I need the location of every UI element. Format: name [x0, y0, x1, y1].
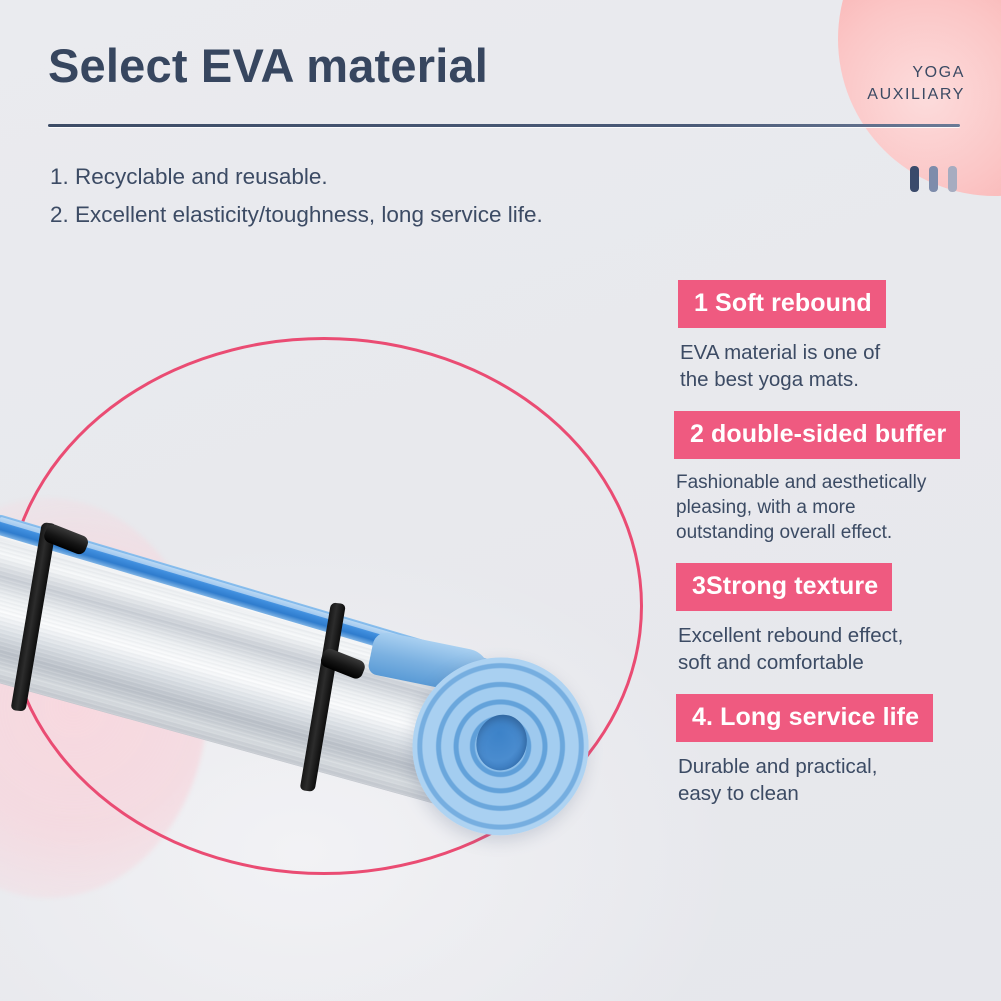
feature-list: 1 Soft rebound EVA material is one of th… — [672, 280, 994, 807]
accent-bar-medium — [929, 166, 938, 192]
brand-label-line1: YOGA — [867, 62, 965, 84]
accent-bars — [910, 166, 957, 192]
feature-badge-1: 1 Soft rebound — [678, 280, 886, 328]
feature-description-3: Excellent rebound effect, soft and comfo… — [678, 622, 994, 676]
feature-description-2-line-2: pleasing, with a more — [676, 495, 994, 520]
feature-description-2-line-1: Fashionable and aesthetically — [676, 470, 994, 495]
title-divider — [48, 124, 960, 127]
feature-item-3: 3Strong texture Excellent rebound effect… — [672, 563, 994, 676]
accent-bar-light — [948, 166, 957, 192]
feature-badge-4: 4. Long service life — [676, 694, 933, 742]
accent-bar-dark — [910, 166, 919, 192]
feature-description-1-line-2: the best yoga mats. — [680, 366, 994, 393]
feature-description-4-line-2: easy to clean — [678, 780, 994, 807]
infographic-canvas: YOGA AUXILIARY Select EVA material 1. Re… — [0, 0, 1001, 1001]
feature-badge-3: 3Strong texture — [676, 563, 892, 611]
brand-label: YOGA AUXILIARY — [867, 62, 965, 106]
feature-description-2: Fashionable and aesthetically pleasing, … — [676, 470, 994, 545]
feature-description-4: Durable and practical, easy to clean — [678, 753, 994, 807]
feature-item-4: 4. Long service life Durable and practic… — [672, 694, 994, 807]
brand-label-line2: AUXILIARY — [867, 84, 965, 106]
feature-description-4-line-1: Durable and practical, — [678, 753, 994, 780]
feature-description-1-line-1: EVA material is one of — [680, 339, 994, 366]
feature-description-1: EVA material is one of the best yoga mat… — [680, 339, 994, 393]
feature-description-3-line-1: Excellent rebound effect, — [678, 622, 994, 649]
feature-badge-2: 2 double-sided buffer — [674, 411, 960, 459]
feature-item-2: 2 double-sided buffer Fashionable and ae… — [672, 411, 994, 545]
bullet-item-1: 1. Recyclable and reusable. — [50, 158, 543, 196]
feature-description-3-line-2: soft and comfortable — [678, 649, 994, 676]
feature-item-1: 1 Soft rebound EVA material is one of th… — [672, 280, 994, 393]
feature-description-2-line-3: outstanding overall effect. — [676, 520, 994, 545]
feature-bullet-list: 1. Recyclable and reusable. 2. Excellent… — [50, 158, 543, 234]
page-title: Select EVA material — [48, 38, 488, 93]
bullet-item-2: 2. Excellent elasticity/toughness, long … — [50, 196, 543, 234]
